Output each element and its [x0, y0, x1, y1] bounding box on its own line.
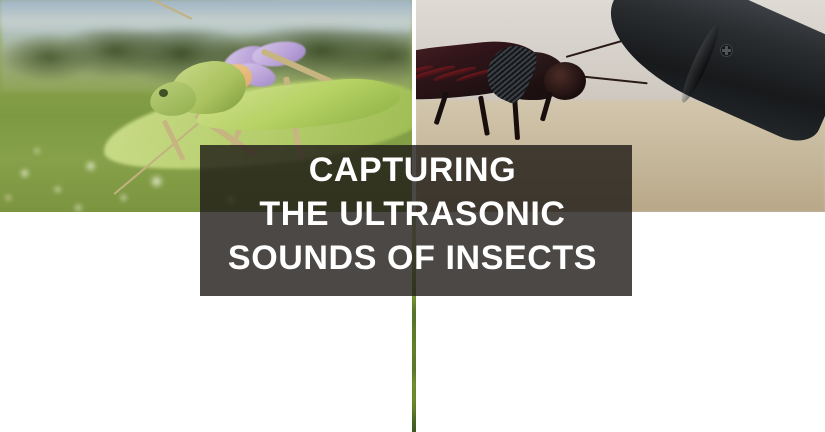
katydid-eye	[159, 89, 168, 97]
microphone-screw	[720, 44, 733, 57]
sky-strip	[0, 0, 412, 34]
headline-overlay-panel	[200, 145, 632, 296]
banner-image: CAPTURING THE ULTRASONIC SOUNDS OF INSEC…	[0, 0, 825, 432]
